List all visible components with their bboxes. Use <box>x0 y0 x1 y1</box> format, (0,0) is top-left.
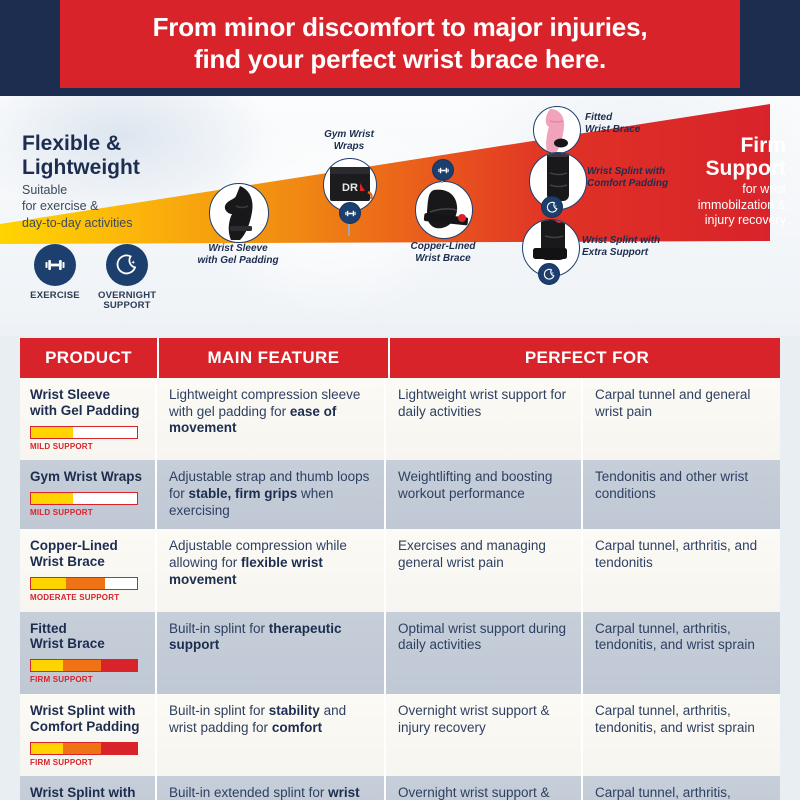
cell-main-feature: Adjustable compression while allowing fo… <box>157 529 386 611</box>
legend-overnight-text-2: SUPPORT <box>103 300 150 311</box>
product-name: Wrist Sleevewith Gel Padding <box>30 387 145 419</box>
cell-product: FittedWrist BraceFIRM SUPPORT <box>20 612 157 694</box>
support-level-label: MODERATE SUPPORT <box>30 593 145 602</box>
moon-icon <box>115 253 139 277</box>
header-title-line2: find your perfect wrist brace here. <box>153 44 648 76</box>
support-level-label: FIRM SUPPORT <box>30 758 145 767</box>
table-row: Copper-LinedWrist BraceMODERATE SUPPORTA… <box>20 529 780 611</box>
dumbbell-icon <box>437 164 450 177</box>
callout-wrist-splint-with-extra-support[interactable]: Wrist Splint with Extra Support <box>522 219 580 277</box>
moon-icon <box>546 201 559 214</box>
cell-perfect-for-usage: Exercises and managing general wrist pai… <box>386 529 583 611</box>
callout-2-line2: Wrist Brace <box>415 253 470 264</box>
support-level-bar <box>30 577 138 590</box>
support-bar-segment <box>63 660 101 671</box>
support-level-bar <box>30 426 138 439</box>
product-name: Copper-LinedWrist Brace <box>30 538 145 570</box>
left-sub-line2: for exercise & <box>22 199 98 213</box>
callout-3-line1: Fitted <box>585 112 612 123</box>
legend-label-overnight-support: OVERNIGHT SUPPORT <box>98 291 156 312</box>
callout-copper-lined-wrist-brace[interactable]: Copper-Lined Wrist Brace <box>415 181 473 239</box>
legend-label-exercise: EXERCISE <box>26 291 84 301</box>
copper-lined-wrist-brace-artwork <box>416 182 472 238</box>
product-image-fitted-wrist-brace <box>533 106 581 154</box>
product-name: FittedWrist Brace <box>30 621 145 653</box>
infographic-page: From minor discomfort to major injuries,… <box>0 0 800 800</box>
overnight-icon-badge <box>106 244 148 286</box>
cell-product: Wrist Sleevewith Gel PaddingMILD SUPPORT <box>20 378 157 460</box>
cell-perfect-for-usage: Overnight wrist support & injury recover… <box>386 694 583 776</box>
callout-gym-wrist-wraps[interactable]: DR Gym Wrist Wraps <box>323 158 377 212</box>
support-bar-segment <box>31 578 66 589</box>
callout-4-line2: Comfort Padding <box>587 178 668 189</box>
support-bar-segment <box>31 427 73 438</box>
left-sub-line1: Suitable <box>22 183 67 197</box>
cell-perfect-for-conditions: Carpal tunnel and general wrist pain <box>583 378 780 460</box>
column-header-main-feature: MAIN FEATURE <box>159 338 390 378</box>
header-banner: From minor discomfort to major injuries,… <box>60 0 740 88</box>
cell-perfect-for-usage: Weightlifting and boosting workout perfo… <box>386 460 583 529</box>
svg-text:DR: DR <box>342 182 358 194</box>
callout-0-line1: Wrist Sleeve <box>208 243 267 254</box>
callout-label-gym-wrist-wraps: Gym Wrist Wraps <box>305 129 393 153</box>
cell-perfect-for-usage: Lightweight wrist support for daily acti… <box>386 378 583 460</box>
table-row: FittedWrist BraceFIRM SUPPORTBuilt-in sp… <box>20 612 780 694</box>
left-title-line1: Flexible & <box>22 132 121 155</box>
callout-2-line1: Copper-Lined <box>411 241 476 252</box>
callout-wrist-sleeve-with-gel-padding[interactable]: Wrist Sleeve with Gel Padding <box>209 183 269 243</box>
callout-wrist-splint-with-comfort-padding[interactable]: Wrist Splint with Comfort Padding <box>529 152 587 210</box>
callout-5-line2: Extra Support <box>582 247 648 258</box>
support-bar-segment <box>101 660 137 671</box>
callout-1-line2: Wraps <box>334 141 364 152</box>
support-bar-segment <box>31 743 63 754</box>
support-level-bar <box>30 742 138 755</box>
left-sub-line3: day-to-day activities <box>22 216 132 230</box>
usage-legend: EXERCISE OVERNIGHT SUPPORT <box>26 244 156 312</box>
legend-overnight-text-1: OVERNIGHT <box>98 290 156 301</box>
support-bar-segment <box>63 743 101 754</box>
support-level-label: FIRM SUPPORT <box>30 675 145 684</box>
wrist-sleeve-artwork <box>210 184 268 242</box>
cell-main-feature: Lightweight compression sleeve with gel … <box>157 378 386 460</box>
cell-perfect-for-conditions: Carpal tunnel, arthritis, tendonitis, an… <box>583 694 780 776</box>
callout-3-line2: Wrist Brace <box>585 124 640 135</box>
flexible-lightweight-title: Flexible & Lightweight <box>22 132 202 180</box>
cell-product: Copper-LinedWrist BraceMODERATE SUPPORT <box>20 529 157 611</box>
callout-1-line1: Gym Wrist <box>324 129 374 140</box>
right-sub-line1: for wrist <box>742 182 786 196</box>
cell-product: Wrist Splint withExtra SupportFIRM SUPPO… <box>20 776 157 800</box>
table-body: Wrist Sleevewith Gel PaddingMILD SUPPORT… <box>20 378 780 800</box>
product-name: Gym Wrist Wraps <box>30 469 145 485</box>
cell-perfect-for-usage: Optimal wrist support during daily activ… <box>386 612 583 694</box>
product-image-copper-lined-wrist-brace <box>415 181 473 239</box>
support-bar-segment <box>31 660 63 671</box>
right-title-line2: Support <box>706 157 786 180</box>
right-sub-line2: immobilzation & <box>698 198 786 212</box>
cell-perfect-for-conditions: Tendonitis and other wrist conditions <box>583 460 780 529</box>
table-row: Wrist Splint withExtra SupportFIRM SUPPO… <box>20 776 780 800</box>
table-row: Gym Wrist WrapsMILD SUPPORTAdjustable st… <box>20 460 780 529</box>
header-band: From minor discomfort to major injuries,… <box>0 0 800 96</box>
column-header-product: PRODUCT <box>20 338 159 378</box>
left-title-line2: Lightweight <box>22 156 140 179</box>
callout-label-wrist-splint-comfort-padding: Wrist Splint with Comfort Padding <box>587 166 668 190</box>
comparison-table: PRODUCT MAIN FEATURE PERFECT FOR Wrist S… <box>20 338 780 786</box>
support-level-label: MILD SUPPORT <box>30 508 145 517</box>
cell-main-feature: Built-in splint for therapeutic support <box>157 612 386 694</box>
dumbbell-icon <box>344 207 357 220</box>
page-title: From minor discomfort to major injuries,… <box>143 12 658 75</box>
flexible-lightweight-subtitle: Suitable for exercise & day-to-day activ… <box>22 182 202 231</box>
legend-exercise-text: EXERCISE <box>30 290 80 301</box>
product-image-wrist-sleeve <box>209 183 269 243</box>
dumbbell-icon <box>43 253 67 277</box>
cell-main-feature: Adjustable strap and thumb loops for sta… <box>157 460 386 529</box>
support-bar-segment <box>31 493 73 504</box>
callout-label-fitted-wrist-brace: Fitted Wrist Brace <box>585 112 640 136</box>
callout-0-line2: with Gel Padding <box>197 255 278 266</box>
support-bar-segment <box>66 578 105 589</box>
exercise-icon-badge <box>34 244 76 286</box>
cell-product: Wrist Splint withComfort PaddingFIRM SUP… <box>20 694 157 776</box>
table-row: Wrist Splint withComfort PaddingFIRM SUP… <box>20 694 780 776</box>
fitted-wrist-brace-artwork <box>534 107 580 153</box>
header-title-line1: From minor discomfort to major injuries, <box>153 12 648 42</box>
callout-label-wrist-splint-extra-support: Wrist Splint with Extra Support <box>582 235 660 259</box>
callout-label-wrist-sleeve: Wrist Sleeve with Gel Padding <box>195 243 281 267</box>
callout-fitted-wrist-brace[interactable]: Fitted Wrist Brace <box>533 106 581 154</box>
legend-item-overnight-support: OVERNIGHT SUPPORT <box>98 244 156 312</box>
moon-icon <box>543 268 556 281</box>
right-title-line1: Firm <box>740 134 786 157</box>
column-header-perfect-for: PERFECT FOR <box>390 338 784 378</box>
cell-main-feature: Built-in extended splint for wrist immob… <box>157 776 386 800</box>
badge-moon-comfort-padding <box>541 196 563 218</box>
table-header-row: PRODUCT MAIN FEATURE PERFECT FOR <box>20 338 780 378</box>
cell-perfect-for-conditions: Carpal tunnel, arthritis, tendonitis, wr… <box>583 776 780 800</box>
support-spectrum-section: Flexible & Lightweight Suitable for exer… <box>0 96 800 336</box>
legend-item-exercise: EXERCISE <box>26 244 84 312</box>
product-name: Wrist Splint withExtra Support <box>30 785 145 800</box>
right-sub-line3: injury recovery <box>705 213 786 227</box>
cell-perfect-for-conditions: Carpal tunnel, arthritis, tendonitis, an… <box>583 612 780 694</box>
cell-main-feature: Built-in splint for stability and wrist … <box>157 694 386 776</box>
badge-dumbbell-gym-wrist-wraps <box>339 202 361 224</box>
callout-label-copper-lined-wrist-brace: Copper-Lined Wrist Brace <box>397 241 489 265</box>
cell-product: Gym Wrist WrapsMILD SUPPORT <box>20 460 157 529</box>
badge-moon-extra-support <box>538 263 560 285</box>
support-level-bar <box>30 659 138 672</box>
callout-4-line1: Wrist Splint with <box>587 166 665 177</box>
support-bar-segment <box>101 743 137 754</box>
cell-perfect-for-conditions: Carpal tunnel, arthritis, and tendonitis <box>583 529 780 611</box>
product-name: Wrist Splint withComfort Padding <box>30 703 145 735</box>
callout-5-line1: Wrist Splint with <box>582 235 660 246</box>
cell-perfect-for-usage: Overnight wrist support & extra stabilit… <box>386 776 583 800</box>
badge-dumbbell-copper-lined <box>432 159 454 181</box>
support-level-bar <box>30 492 138 505</box>
table-row: Wrist Sleevewith Gel PaddingMILD SUPPORT… <box>20 378 780 460</box>
support-level-label: MILD SUPPORT <box>30 442 145 451</box>
